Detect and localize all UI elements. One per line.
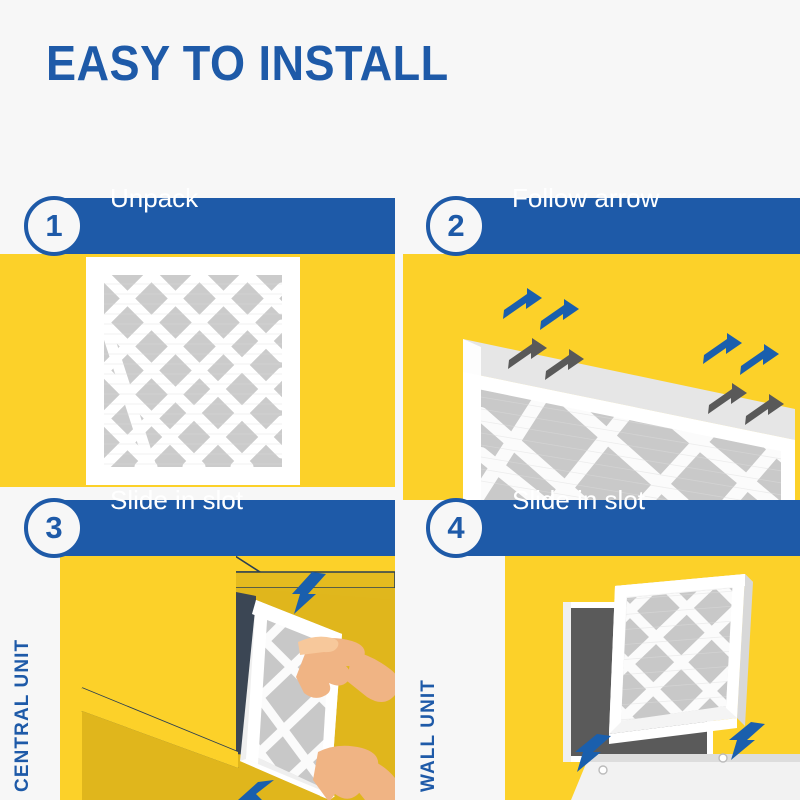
tilted-filter-svg [403, 254, 800, 500]
step-1-label: Unpack [110, 170, 198, 226]
step-3-illustration [60, 556, 395, 800]
step-2-number-badge: 2 [426, 196, 486, 256]
page-title: EASY TO INSTALL [46, 36, 449, 92]
step-4-side-label: WALL UNIT [418, 679, 440, 792]
vent-door [571, 754, 800, 800]
step-4-label: Slide in slot [512, 472, 645, 528]
step-1-number-badge: 1 [24, 196, 84, 256]
step-3-label: Slide in slot [110, 472, 243, 528]
central-unit-svg [60, 556, 395, 800]
step-3-side-label: CENTRAL UNIT [12, 639, 34, 792]
step-2-illustration [403, 254, 800, 500]
step-4-illustration [505, 556, 800, 800]
infographic-root: EASY TO INSTALL Unpack 1 [0, 0, 800, 800]
wall-filter [605, 574, 760, 746]
step-1-illustration [0, 254, 395, 487]
step-3-number-badge: 3 [24, 498, 84, 558]
flat-filter-svg [0, 254, 395, 487]
step-4-number-badge: 4 [426, 498, 486, 558]
wall-unit-svg [505, 556, 800, 800]
step-2-label: Follow arrow [512, 170, 659, 226]
step-1-header-bar [48, 198, 395, 254]
